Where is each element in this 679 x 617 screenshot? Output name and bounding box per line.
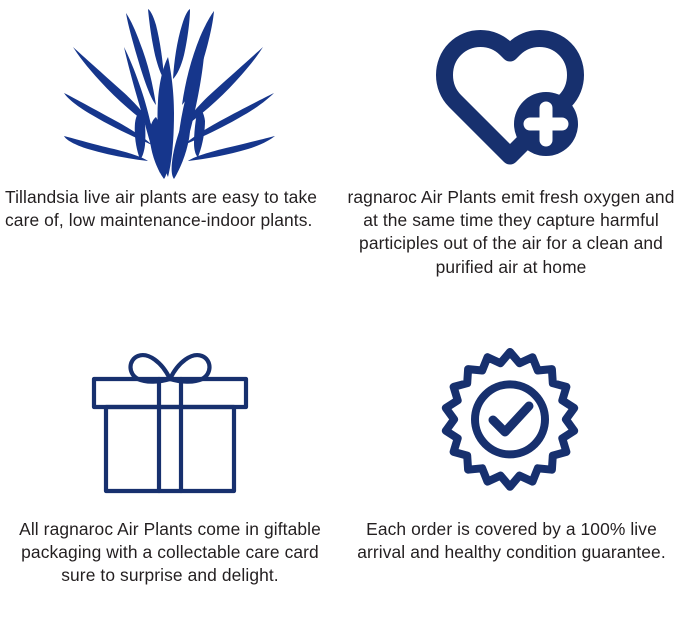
feature-panel-air-plant-care: Tillandsia live air plants are easy to t… bbox=[0, 0, 340, 308]
feature-panel-giftable-packaging: All ragnaroc Air Plants come in giftable… bbox=[0, 308, 340, 617]
icon-area bbox=[340, 308, 679, 516]
panel-caption: All ragnaroc Air Plants come in giftable… bbox=[0, 518, 340, 588]
air-plant-icon bbox=[64, 9, 276, 181]
feature-panel-live-arrival-guarantee: Each order is covered by a 100% live arr… bbox=[340, 308, 679, 617]
guarantee-badge-icon bbox=[437, 348, 583, 494]
panel-caption: Tillandsia live air plants are easy to t… bbox=[0, 186, 340, 232]
icon-area bbox=[340, 0, 679, 186]
feature-grid: Tillandsia live air plants are easy to t… bbox=[0, 0, 679, 617]
heart-plus-icon bbox=[435, 25, 585, 165]
icon-area bbox=[0, 308, 340, 516]
panel-caption: ragnaroc Air Plants emit fresh oxygen an… bbox=[340, 186, 679, 279]
panel-caption: Each order is covered by a 100% live arr… bbox=[340, 518, 679, 564]
gift-box-icon bbox=[88, 346, 252, 496]
icon-area bbox=[0, 0, 340, 186]
feature-panel-oxygen-purification: ragnaroc Air Plants emit fresh oxygen an… bbox=[340, 0, 679, 308]
